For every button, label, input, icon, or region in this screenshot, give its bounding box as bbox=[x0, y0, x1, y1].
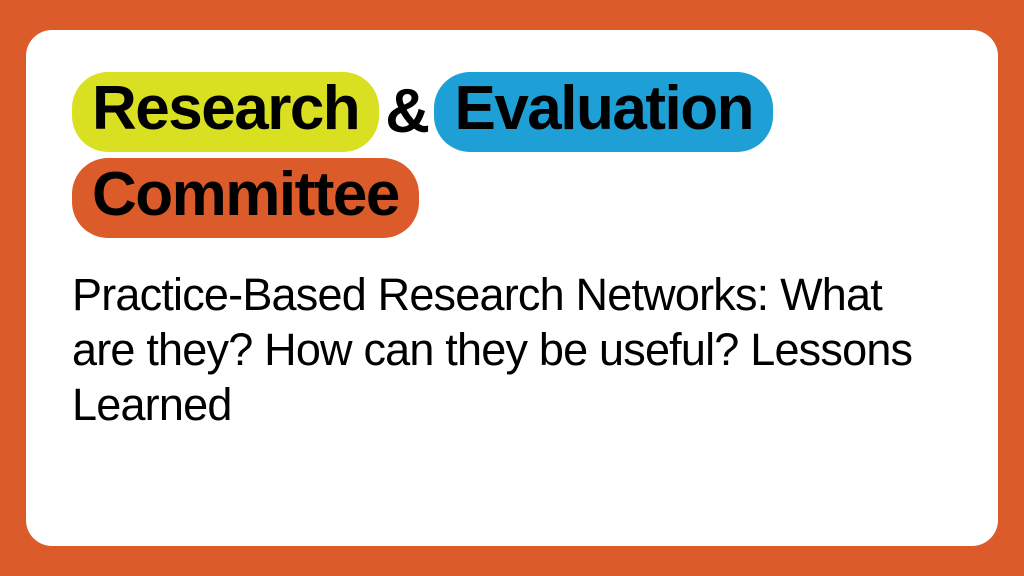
slide-card: Research&Evaluation Committee Practice-B… bbox=[26, 30, 998, 546]
title-ampersand: & bbox=[379, 81, 434, 143]
title-word-committee: Committee bbox=[72, 158, 419, 238]
title-word-research: Research bbox=[72, 72, 379, 152]
title-line-2: Committee bbox=[72, 158, 952, 238]
title-line-1: Research&Evaluation bbox=[72, 72, 952, 152]
slide-background: Research&Evaluation Committee Practice-B… bbox=[0, 0, 1024, 576]
slide-subtitle: Practice-Based Research Networks: What a… bbox=[72, 268, 952, 433]
title-block: Research&Evaluation Committee bbox=[72, 72, 952, 238]
title-word-evaluation: Evaluation bbox=[434, 72, 773, 152]
